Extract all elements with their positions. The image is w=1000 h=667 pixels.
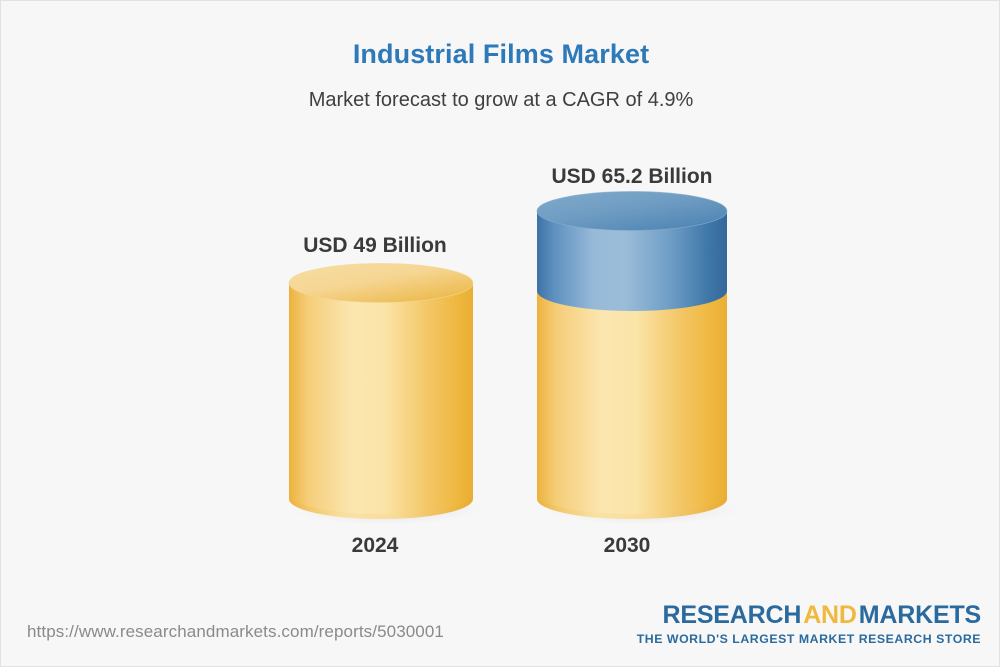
- logo-word-and: AND: [801, 601, 859, 629]
- category-label-2030: 2030: [531, 534, 723, 558]
- cylinder-2024: [283, 263, 479, 525]
- logo-tagline: THE WORLD'S LARGEST MARKET RESEARCH STOR…: [637, 633, 981, 645]
- logo-word-research: RESEARCH: [663, 601, 802, 629]
- cylinder-2030: [531, 191, 743, 525]
- plot-area: USD 49 Billion: [1, 1, 1000, 601]
- chart-canvas: Industrial Films Market Market forecast …: [0, 0, 1000, 667]
- value-label-2024: USD 49 Billion: [289, 234, 461, 258]
- value-label-2030: USD 65.2 Billion: [527, 165, 737, 189]
- logo-wordmark: RESEARCHANDMARKETS: [637, 603, 981, 628]
- logo-word-markets: MARKETS: [859, 601, 981, 629]
- category-label-2024: 2024: [289, 534, 461, 558]
- research-and-markets-logo[interactable]: RESEARCHANDMARKETS THE WORLD'S LARGEST M…: [637, 603, 981, 645]
- source-url[interactable]: https://www.researchandmarkets.com/repor…: [27, 622, 444, 642]
